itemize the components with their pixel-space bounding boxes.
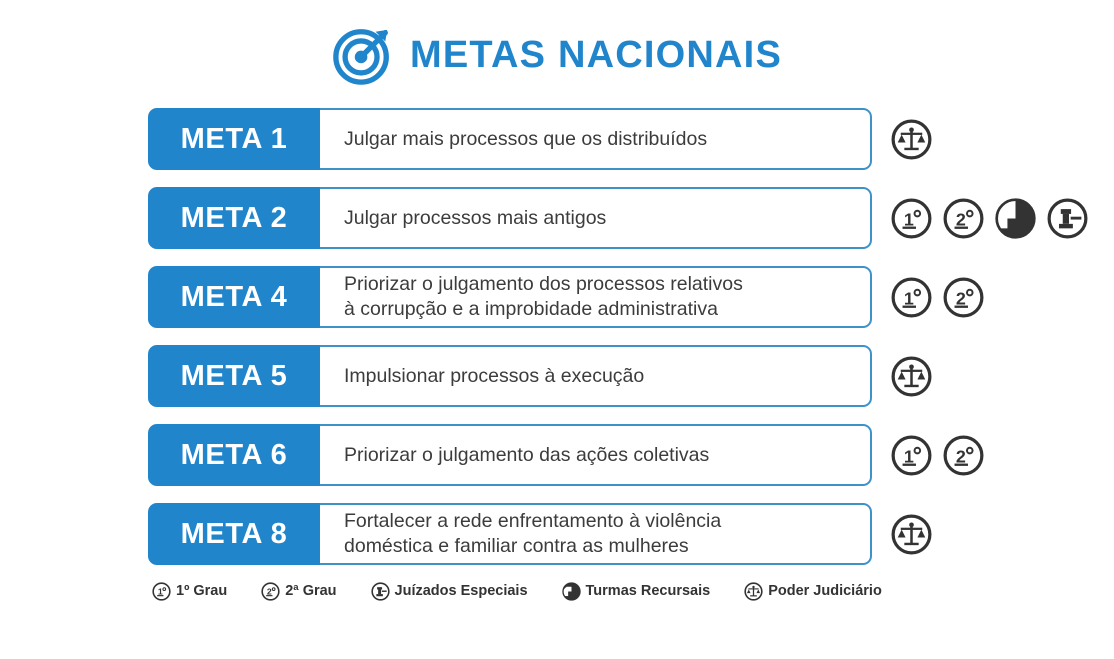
goal-tab-meta-2[interactable]: META 2	[148, 187, 320, 249]
poder-judiciario-icon	[744, 582, 763, 601]
goal-row[interactable]: META 8 Fortalecer a rede enfrentamento à…	[0, 503, 1114, 565]
goal-description-line: Fortalecer a rede enfrentamento à violên…	[344, 509, 858, 534]
goal-tab-label: META 1	[181, 125, 288, 154]
primeiro-grau-icon: 1	[890, 276, 933, 319]
page-title: METAS NACIONAIS	[410, 36, 782, 74]
legend-item-label: Turmas Recursais	[586, 584, 711, 599]
goal-description: Priorizar o julgamento das ações coletiv…	[320, 424, 872, 486]
goal-description: Julgar processos mais antigos	[320, 187, 872, 249]
segundo-grau-icon: 2	[261, 582, 280, 601]
goal-tab-label: META 8	[181, 520, 288, 549]
goal-tab-meta-6[interactable]: META 6	[148, 424, 320, 486]
target-arrow-icon	[332, 24, 394, 86]
goal-description-line: Julgar mais processos que os distribuído…	[344, 127, 858, 152]
legend-item-label: 2ª Grau	[285, 584, 336, 599]
goal-row[interactable]: META 6 Priorizar o julgamento das ações …	[0, 424, 1114, 486]
goal-tab-meta-1[interactable]: META 1	[148, 108, 320, 170]
poder-judiciario-icon	[890, 355, 933, 398]
primeiro-grau-icon: 1	[152, 582, 171, 601]
goal-rows: META 1 Julgar mais processos que os dist…	[0, 108, 1114, 565]
legend-item-label: 1º Grau	[176, 584, 227, 599]
legend-item: Poder Judiciário	[744, 582, 882, 601]
goal-tab-meta-4[interactable]: META 4	[148, 266, 320, 328]
goal-description: Impulsionar processos à execução	[320, 345, 872, 407]
goal-description: Julgar mais processos que os distribuído…	[320, 108, 872, 170]
legend-item: 2 2ª Grau	[261, 582, 336, 601]
poder-judiciario-icon	[890, 118, 933, 161]
goal-row[interactable]: META 4 Priorizar o julgamento dos proces…	[0, 266, 1114, 328]
turmas-recursais-icon	[994, 197, 1037, 240]
legend-item: 1 1º Grau	[152, 582, 227, 601]
segundo-grau-icon: 2	[942, 276, 985, 319]
goal-tab-meta-5[interactable]: META 5	[148, 345, 320, 407]
row-icon-group: 1 2	[890, 276, 985, 319]
legend-item-label: Juízados Especiais	[395, 584, 528, 599]
goal-tab-meta-8[interactable]: META 8	[148, 503, 320, 565]
goal-description: Fortalecer a rede enfrentamento à violên…	[320, 503, 872, 565]
juizados-especiais-icon	[371, 582, 390, 601]
goal-description-line: Priorizar o julgamento dos processos rel…	[344, 272, 858, 297]
primeiro-grau-icon: 1	[890, 434, 933, 477]
legend: 1 1º Grau 2 2ª Grau	[0, 582, 1114, 601]
goal-tab-label: META 6	[181, 441, 288, 470]
goal-description-line: Impulsionar processos à execução	[344, 364, 858, 389]
goal-description-line: Priorizar o julgamento das ações coletiv…	[344, 443, 858, 468]
goal-row[interactable]: META 5 Impulsionar processos à execução	[0, 345, 1114, 407]
row-icon-group: 1 2	[890, 434, 985, 477]
goal-tab-label: META 4	[181, 283, 288, 312]
row-icon-group	[890, 118, 933, 161]
goal-row[interactable]: META 1 Julgar mais processos que os dist…	[0, 108, 1114, 170]
legend-item-label: Poder Judiciário	[768, 584, 882, 599]
goal-description-line: doméstica e familiar contra as mulheres	[344, 534, 858, 559]
row-icon-group	[890, 513, 933, 556]
row-icon-group	[890, 355, 933, 398]
legend-item: Turmas Recursais	[562, 582, 711, 601]
legend-item: Juízados Especiais	[371, 582, 528, 601]
primeiro-grau-icon: 1	[890, 197, 933, 240]
poder-judiciario-icon	[890, 513, 933, 556]
goal-tab-label: META 2	[181, 204, 288, 233]
segundo-grau-icon: 2	[942, 434, 985, 477]
page-header: METAS NACIONAIS	[0, 0, 1114, 96]
row-icon-group: 1 2	[890, 197, 1089, 240]
goal-description-line: Julgar processos mais antigos	[344, 206, 858, 231]
goal-description-line: à corrupção e a improbidade administrati…	[344, 297, 858, 322]
segundo-grau-icon: 2	[942, 197, 985, 240]
goal-tab-label: META 5	[181, 362, 288, 391]
juizados-especiais-icon	[1046, 197, 1089, 240]
goal-row[interactable]: META 2 Julgar processos mais antigos 1 2	[0, 187, 1114, 249]
turmas-recursais-icon	[562, 582, 581, 601]
goal-description: Priorizar o julgamento dos processos rel…	[320, 266, 872, 328]
